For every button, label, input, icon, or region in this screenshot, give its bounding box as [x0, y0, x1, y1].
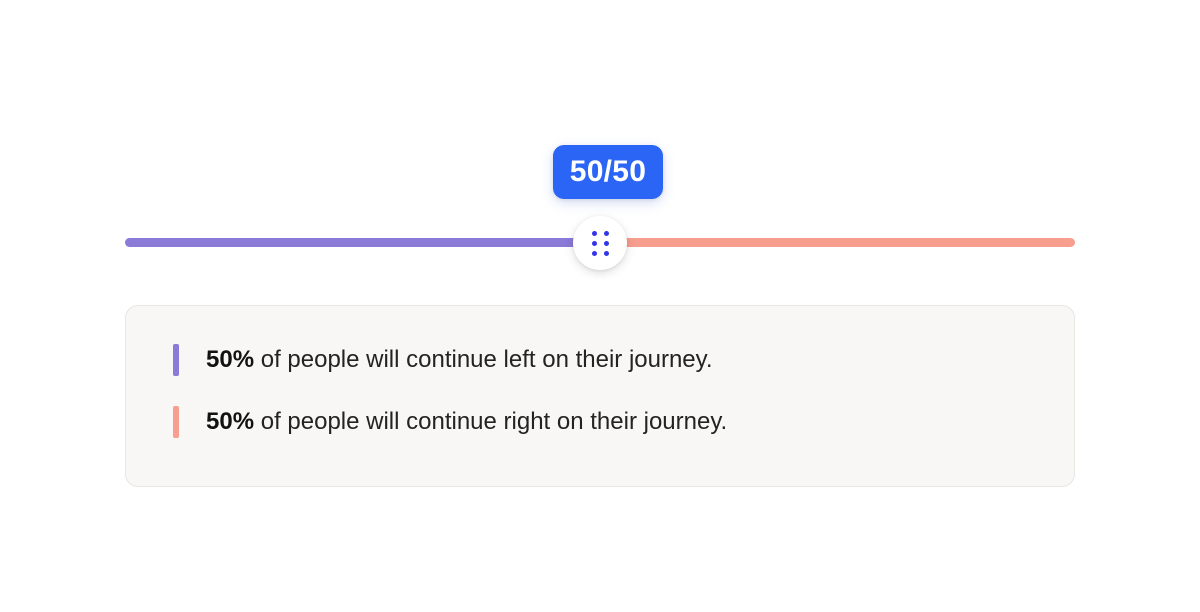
slider-value-label: 50/50 — [570, 157, 647, 187]
legend-row-right: 50% of people will continue right on the… — [173, 406, 1074, 438]
legend-marker-right — [173, 406, 179, 438]
slider-track-right-segment — [600, 238, 1075, 247]
legend-description-right: of people will continue right on their j… — [254, 408, 727, 435]
legend-text-right: 50% of people will continue right on the… — [206, 406, 727, 438]
legend-percent-left: 50% — [206, 346, 254, 373]
legend-text-left: 50% of people will continue left on thei… — [206, 344, 713, 376]
legend-row-left: 50% of people will continue left on thei… — [173, 344, 1074, 376]
slider-value-badge: 50/50 — [553, 145, 663, 199]
legend-percent-right: 50% — [206, 408, 254, 435]
legend-description-left: of people will continue left on their jo… — [254, 346, 713, 373]
split-ratio-slider[interactable]: 50/50 — [125, 140, 1075, 290]
slider-track-left-segment — [125, 238, 600, 247]
slider-handle[interactable] — [573, 216, 627, 270]
legend-marker-left — [173, 344, 179, 376]
drag-grip-dots-icon — [592, 231, 609, 256]
legend-card: 50% of people will continue left on thei… — [125, 305, 1075, 487]
